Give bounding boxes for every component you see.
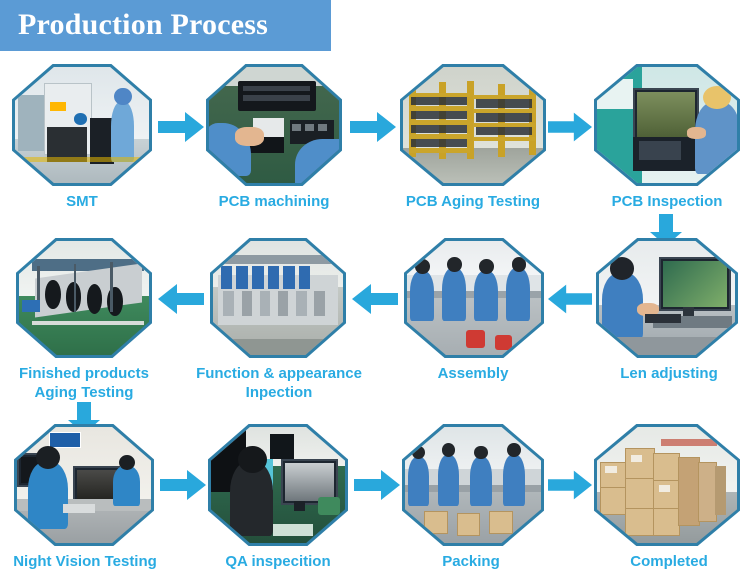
octagon-photo-clip bbox=[403, 67, 543, 183]
step-label-night-vision-testing: Night Vision Testing bbox=[10, 552, 160, 571]
step-label-pcb-aging-testing: PCB Aging Testing bbox=[394, 192, 552, 211]
step-label-completed: Completed bbox=[596, 552, 742, 571]
photo-finished-aging-rack-green-floor bbox=[19, 241, 149, 355]
photo-yellow-aging-racks bbox=[403, 67, 543, 183]
step-cell-pcb-machining[interactable] bbox=[206, 64, 342, 186]
step-cell-night-vision-testing[interactable] bbox=[14, 424, 154, 546]
arrow-right-qa-inspection-to-packing bbox=[354, 470, 400, 500]
arrow-right-pcb-aging-to-pcb-inspection bbox=[548, 112, 592, 142]
octagon-photo-clip bbox=[599, 241, 735, 355]
step-label-smt: SMT bbox=[12, 192, 152, 211]
step-label-pcb-machining: PCB machining bbox=[196, 192, 352, 211]
step-label-finished-products-aging-testing: Finished products Aging Testing bbox=[2, 364, 166, 402]
arrow-right-pcb-machining-to-pcb-aging bbox=[350, 112, 396, 142]
octagon-photo-clip bbox=[597, 427, 737, 543]
photo-assembly-line-workers bbox=[407, 241, 541, 355]
octagon-photo-clip bbox=[213, 241, 343, 355]
octagon-frame bbox=[594, 64, 740, 186]
step-cell-completed[interactable] bbox=[594, 424, 740, 546]
octagon-photo-clip bbox=[15, 67, 149, 183]
page-title: Production Process bbox=[18, 8, 268, 42]
production-process-infographic: Production Process bbox=[0, 0, 750, 586]
photo-qa-dark-booth-monitor bbox=[211, 427, 345, 543]
step-label-function-appearance-inpection: Function & appearance Inpection bbox=[196, 364, 362, 402]
octagon-frame bbox=[594, 424, 740, 546]
photo-packing-line-workers bbox=[405, 427, 541, 543]
octagon-frame bbox=[14, 424, 154, 546]
step-cell-assembly[interactable] bbox=[404, 238, 544, 358]
octagon-photo-clip bbox=[209, 67, 339, 183]
arrow-left-len-adjusting-to-assembly bbox=[548, 284, 592, 314]
octagon-frame bbox=[12, 64, 152, 186]
step-cell-finished-products-aging-testing[interactable] bbox=[16, 238, 152, 358]
octagon-frame bbox=[400, 64, 546, 186]
octagon-frame bbox=[208, 424, 348, 546]
step-cell-function-appearance-inpection[interactable] bbox=[210, 238, 346, 358]
octagon-frame bbox=[16, 238, 152, 358]
octagon-photo-clip bbox=[211, 427, 345, 543]
octagon-frame bbox=[596, 238, 738, 358]
octagon-frame bbox=[404, 238, 544, 358]
octagon-frame bbox=[402, 424, 544, 546]
step-cell-qa-inspecition[interactable] bbox=[208, 424, 348, 546]
photo-pcb-workbench-hands bbox=[209, 67, 339, 183]
octagon-frame bbox=[206, 64, 342, 186]
photo-inspection-monitor-operator bbox=[597, 67, 737, 183]
octagon-photo-clip bbox=[19, 241, 149, 355]
step-label-assembly: Assembly bbox=[406, 364, 540, 383]
step-cell-len-adjusting[interactable] bbox=[596, 238, 738, 358]
arrow-left-function-appearance-to-finished-aging bbox=[158, 284, 204, 314]
octagon-photo-clip bbox=[407, 241, 541, 355]
step-cell-pcb-inspection[interactable] bbox=[594, 64, 740, 186]
octagon-photo-clip bbox=[597, 67, 737, 183]
title-banner: Production Process bbox=[0, 0, 331, 51]
step-cell-packing[interactable] bbox=[402, 424, 544, 546]
photo-lens-adjust-monitor-desk bbox=[599, 241, 735, 355]
arrow-right-packing-to-completed bbox=[548, 470, 592, 500]
photo-function-test-rack bbox=[213, 241, 343, 355]
step-label-pcb-inspection: PCB Inspection bbox=[592, 192, 742, 211]
photo-smt-machine-line bbox=[15, 67, 149, 183]
step-label-packing: Packing bbox=[404, 552, 538, 571]
octagon-photo-clip bbox=[17, 427, 151, 543]
step-label-qa-inspecition: QA inspecition bbox=[204, 552, 352, 571]
photo-warehouse-carton-stacks bbox=[597, 427, 737, 543]
photo-night-vision-desk-operator bbox=[17, 427, 151, 543]
arrow-left-assembly-to-function-appearance bbox=[352, 284, 398, 314]
octagon-frame bbox=[210, 238, 346, 358]
arrow-right-smt-to-pcb-machining bbox=[158, 112, 204, 142]
arrow-right-night-vision-to-qa-inspection bbox=[160, 470, 206, 500]
step-cell-pcb-aging-testing[interactable] bbox=[400, 64, 546, 186]
step-cell-smt[interactable] bbox=[12, 64, 152, 186]
octagon-photo-clip bbox=[405, 427, 541, 543]
step-label-len-adjusting: Len adjusting bbox=[594, 364, 744, 383]
